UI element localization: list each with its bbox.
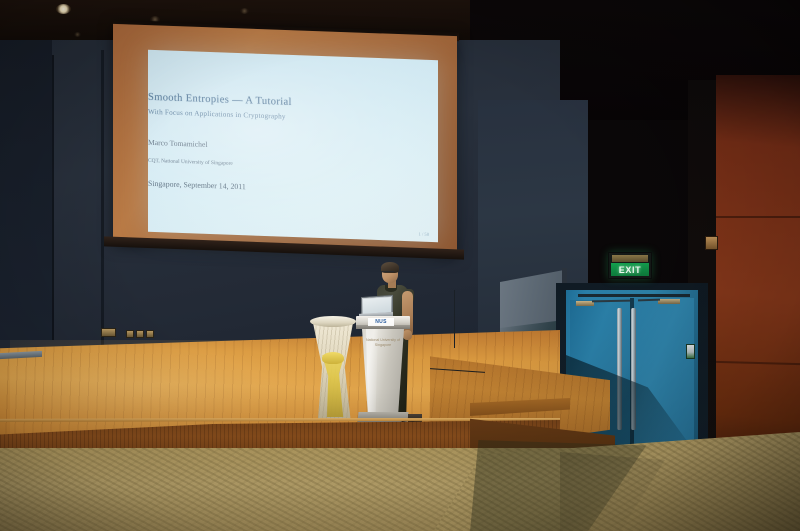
lectern-logo: NUS	[368, 318, 394, 326]
wall-seam	[101, 50, 104, 350]
cocktail-table-top	[310, 316, 356, 327]
wall-socket-icon	[101, 328, 116, 337]
exit-sign-housing	[612, 255, 648, 262]
ceiling-spotlight-icon	[56, 4, 71, 14]
wall-seam	[716, 216, 800, 218]
ceiling-spotlight-icon	[240, 8, 249, 14]
wall-socket-icon	[136, 330, 144, 338]
exit-sign: EXIT	[608, 252, 652, 279]
lectern-plate-text: National University of Singapore	[366, 338, 400, 348]
hanging-cable	[454, 290, 455, 348]
speaker-hand	[403, 330, 412, 340]
wall-socket-icon	[146, 330, 154, 338]
auditorium-photo: Smooth Entropies — A Tutorial With Focus…	[0, 0, 800, 531]
table-sash-knot	[322, 352, 344, 364]
slide-author: Marco Tomamichel	[148, 138, 438, 157]
slide-place-date: Singapore, September 14, 2011	[148, 179, 438, 198]
back-wall-left-panel	[0, 40, 52, 340]
projection-screen: Smooth Entropies — A Tutorial With Focus…	[148, 50, 438, 242]
exit-sign-label: EXIT	[619, 265, 641, 275]
lectern-logo-text: NUS	[375, 319, 386, 325]
ceiling-spotlight-icon	[74, 32, 81, 37]
door-header-bar	[578, 294, 690, 297]
maroon-side-wall	[716, 75, 800, 475]
glasses-icon	[381, 271, 394, 275]
door-closer-icon	[658, 299, 680, 304]
card-reader-icon[interactable]	[686, 344, 695, 359]
wall-socket-icon	[126, 330, 134, 338]
exit-sign-panel: EXIT	[611, 263, 649, 276]
slide-page-number: 1 / 58	[419, 231, 429, 236]
wall-seam	[52, 55, 54, 340]
wall-sconce-icon	[705, 236, 718, 250]
slide-affiliation: CQT, National University of Singapore	[148, 158, 438, 174]
